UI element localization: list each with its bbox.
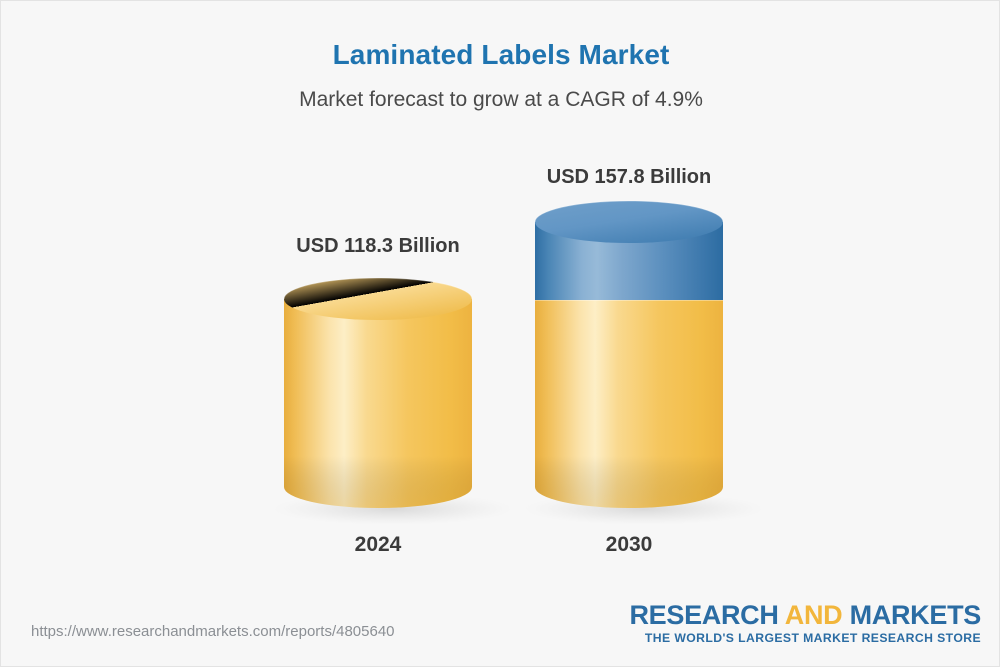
category-label-2030: 2030 xyxy=(535,533,723,557)
research-and-markets-logo[interactable]: RESEARCH AND MARKETS THE WORLD'S LARGEST… xyxy=(629,601,981,645)
bar-2024-base-shade xyxy=(284,456,472,508)
logo-word-and: AND xyxy=(785,600,850,630)
logo-wordmark: RESEARCH AND MARKETS xyxy=(629,601,981,629)
cylinder-bar-chart xyxy=(1,1,1000,668)
logo-word-markets: MARKETS xyxy=(850,600,981,630)
bar-2024[interactable] xyxy=(284,278,472,508)
logo-tagline: THE WORLD'S LARGEST MARKET RESEARCH STOR… xyxy=(629,631,981,645)
bar-2030[interactable] xyxy=(535,201,723,508)
source-url[interactable]: https://www.researchandmarkets.com/repor… xyxy=(31,623,395,640)
chart-canvas: Laminated Labels Market Market forecast … xyxy=(0,0,1000,667)
category-label-2024: 2024 xyxy=(284,533,472,557)
bar-value-label-2030: USD 157.8 Billion xyxy=(535,166,723,189)
bar-value-label-2024: USD 118.3 Billion xyxy=(284,235,472,258)
bar-2030-base-shade xyxy=(535,456,723,508)
logo-word-research: RESEARCH xyxy=(629,600,784,630)
